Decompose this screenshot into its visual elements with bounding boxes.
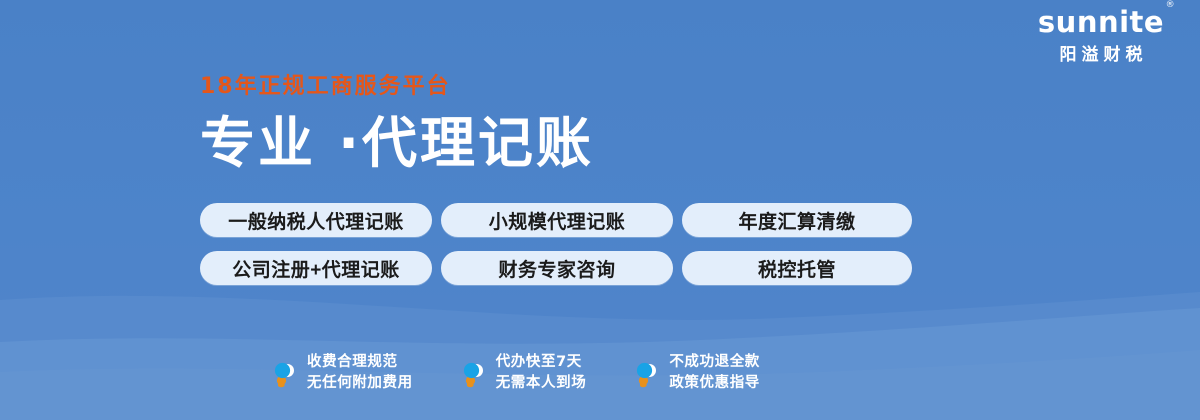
list-item: 代办快至7天 无需本人到场 — [461, 352, 587, 394]
service-pill-label: 公司注册+代理记账 — [232, 255, 400, 282]
service-pill-label: 小规模代理记账 — [489, 207, 626, 234]
service-pill[interactable]: 财务专家咨询 — [441, 251, 673, 285]
hero-headline: 专业 ·代理记账 — [200, 115, 594, 173]
check-badge-icon — [634, 358, 660, 388]
service-pill[interactable]: 小规模代理记账 — [441, 203, 673, 237]
service-pill[interactable]: 税控托管 — [682, 251, 912, 285]
service-pill-label: 年度汇算清缴 — [738, 207, 855, 234]
service-pill-label: 财务专家咨询 — [498, 255, 615, 282]
brand-wordmark: sunnite ® — [1038, 8, 1164, 37]
registered-trademark-icon: ® — [1166, 1, 1176, 10]
list-item-text: 收费合理规范 无任何附加费用 — [307, 352, 413, 394]
brand-chinese-name: 阳溢财税 — [1016, 46, 1186, 63]
feature-line-2: 无任何附加费用 — [307, 373, 413, 394]
brand-logo: sunnite ® 阳溢财税 — [1016, 8, 1186, 63]
feature-line-1: 收费合理规范 — [307, 354, 398, 370]
feature-line-1: 代办快至7天 — [496, 354, 582, 370]
feature-line-2: 政策优惠指导 — [669, 373, 760, 394]
feature-line-2: 无需本人到场 — [496, 373, 587, 394]
check-badge-icon — [461, 358, 487, 388]
check-badge-icon — [272, 358, 298, 388]
service-pill[interactable]: 年度汇算清缴 — [682, 203, 912, 237]
brand-wordmark-text: sunnite — [1038, 5, 1164, 39]
service-pill[interactable]: 一般纳税人代理记账 — [200, 203, 432, 237]
promo-banner: sunnite ® 阳溢财税 18年正规工商服务平台 专业 ·代理记账 一般纳税… — [0, 0, 1200, 420]
hero-eyebrow: 18年正规工商服务平台 — [200, 76, 594, 98]
list-item: 不成功退全款 政策优惠指导 — [634, 352, 760, 394]
service-pill-group: 一般纳税人代理记账 小规模代理记账 年度汇算清缴 公司注册+代理记账 财务专家咨… — [200, 203, 912, 285]
list-item: 收费合理规范 无任何附加费用 — [272, 352, 413, 394]
service-pill-label: 税控托管 — [758, 255, 836, 282]
feature-list: 收费合理规范 无任何附加费用 代办快至7天 无需本人到场 — [272, 352, 760, 394]
list-item-text: 代办快至7天 无需本人到场 — [496, 352, 587, 394]
service-pill-label: 一般纳税人代理记账 — [228, 207, 404, 234]
feature-line-1: 不成功退全款 — [669, 354, 760, 370]
list-item-text: 不成功退全款 政策优惠指导 — [669, 352, 760, 394]
service-pill[interactable]: 公司注册+代理记账 — [200, 251, 432, 285]
hero-copy: 18年正规工商服务平台 专业 ·代理记账 — [200, 76, 594, 173]
